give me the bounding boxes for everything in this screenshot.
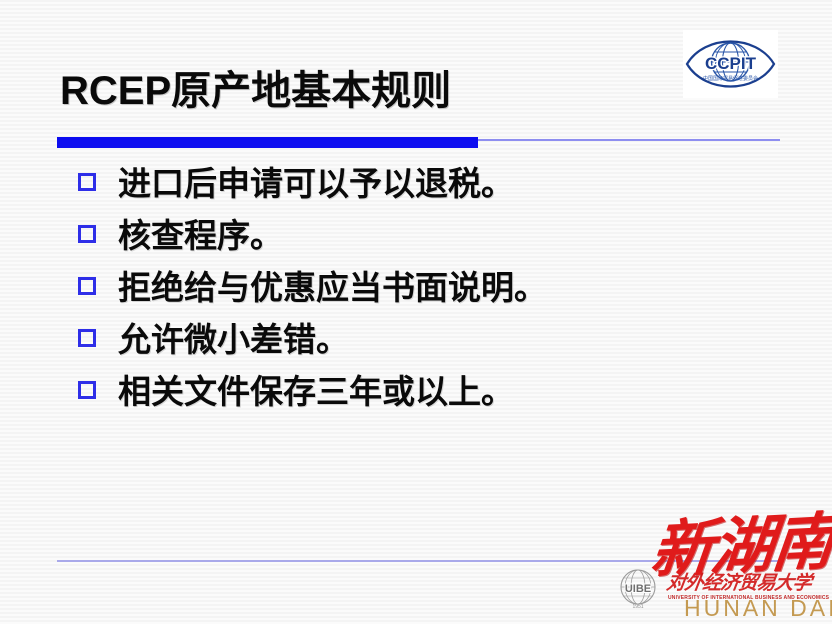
- list-item-label: 拒绝给与优惠应当书面说明。: [118, 264, 547, 312]
- hollow-square-bullet-icon: [78, 277, 96, 295]
- hunan-daily-chinese: 新湖南: [647, 507, 832, 588]
- list-item: 进口后申请可以予以退税。: [78, 160, 718, 212]
- hunan-daily-english: HUNAN DAILY: [684, 596, 832, 620]
- svg-text:1951: 1951: [632, 604, 643, 610]
- slide-canvas: RCEP原产地基本规则 进口后申请可以予以退税。 核查程序。 拒绝给与优惠应当书…: [0, 0, 832, 624]
- hunan-daily-watermark: 新湖南 HUNAN DAILY: [655, 516, 832, 621]
- list-item-label: 核查程序。: [118, 212, 283, 260]
- hollow-square-bullet-icon: [78, 225, 96, 243]
- title-accent-bar: [57, 137, 478, 148]
- hollow-square-bullet-icon: [78, 173, 96, 191]
- list-item: 相关文件保存三年或以上。: [78, 368, 718, 420]
- bullet-list: 进口后申请可以予以退税。 核查程序。 拒绝给与优惠应当书面说明。 允许微小差错。…: [78, 160, 718, 420]
- page-title: RCEP原产地基本规则: [60, 58, 451, 116]
- list-item: 允许微小差错。: [78, 316, 718, 368]
- list-item-label: 允许微小差错。: [118, 316, 349, 364]
- list-item: 核查程序。: [78, 212, 718, 264]
- hollow-square-bullet-icon: [78, 381, 96, 399]
- svg-text:CCPIT: CCPIT: [705, 54, 757, 73]
- hollow-square-bullet-icon: [78, 329, 96, 347]
- list-item-label: 相关文件保存三年或以上。: [118, 368, 514, 416]
- svg-text:中国国际贸易促进委员会: 中国国际贸易促进委员会: [703, 75, 758, 82]
- list-item-label: 进口后申请可以予以退税。: [118, 160, 514, 208]
- list-item: 拒绝给与优惠应当书面说明。: [78, 264, 718, 316]
- ccpit-logo: CCPIT 中国国际贸易促进委员会: [683, 30, 778, 98]
